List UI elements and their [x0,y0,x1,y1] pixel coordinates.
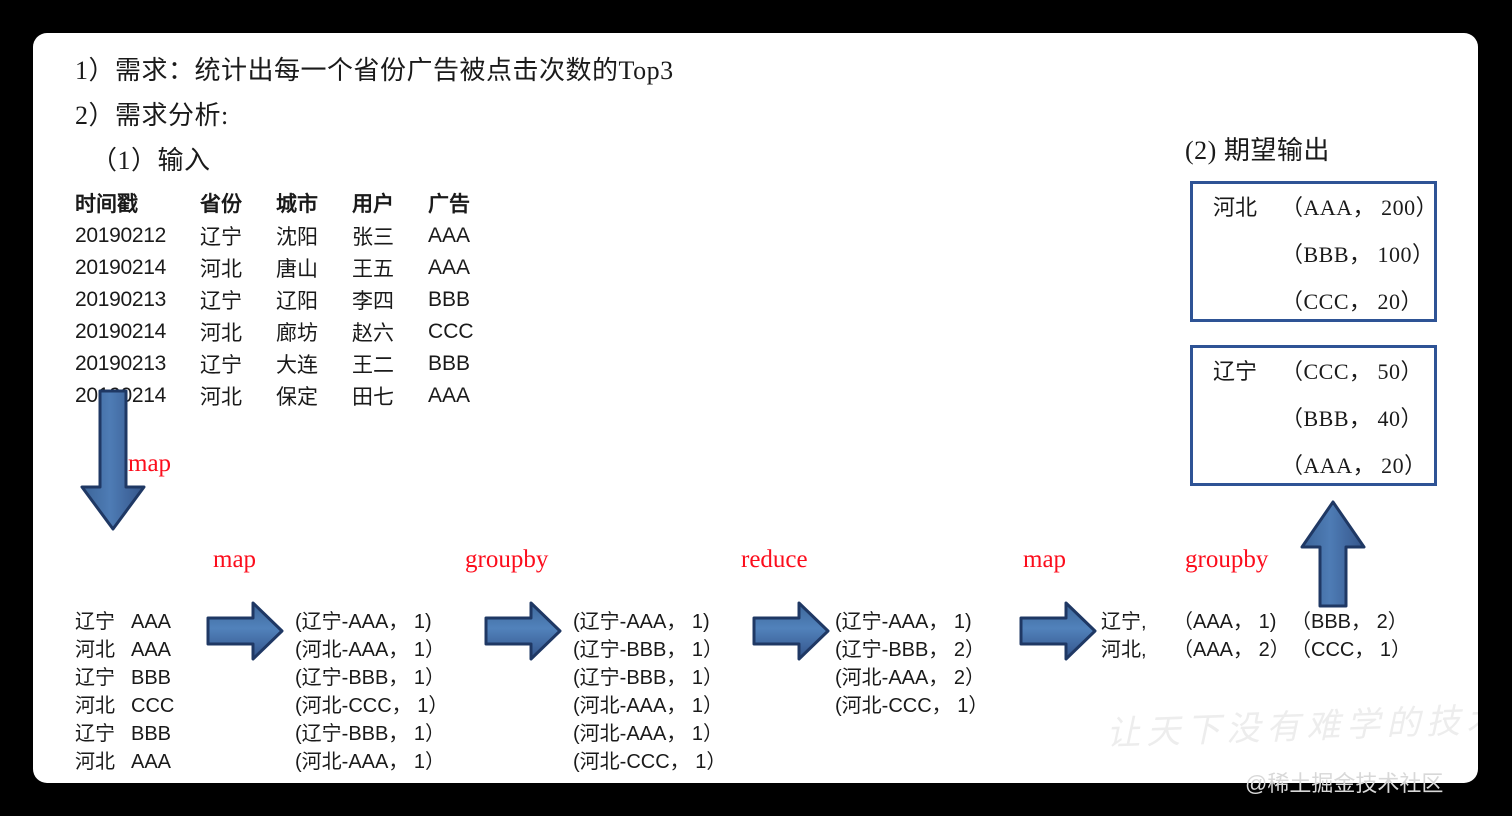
stage1-ad: AAA [131,636,171,664]
list-item: (辽宁-AAA， 1) [295,608,448,636]
list-item: (河北-AAA， 1） [573,720,726,748]
stage1-ad: AAA [131,608,171,636]
list-item: (辽宁-AAA， 1) [573,608,726,636]
cell-ad: BBB [428,284,508,316]
table-row: 20190213 辽宁 大连 王二 BBB [75,348,508,380]
list-item: (辽宁-BBB， 1） [295,720,448,748]
cell-user: 王五 [352,252,428,284]
input-data-table: 时间戳 省份 城市 用户 广告 20190212 辽宁 沈阳 张三 AAA 20… [75,188,508,412]
list-item: (辽宁-BBB， 2） [835,636,988,664]
list-item: 河北AAA [75,636,174,664]
list-item: (河北-CCC， 1） [835,692,988,720]
final-province: 辽宁, [1101,608,1173,636]
list-item: (河北-AAA， 1） [295,636,448,664]
cell-ad: AAA [428,252,508,284]
pipeline-stage-4: (辽宁-AAA， 1) (辽宁-BBB， 2） (河北-AAA， 2） (河北-… [835,608,988,720]
cell-ad: BBB [428,348,508,380]
cell-province: 河北 [200,380,276,412]
requirement-line: 1）需求：统计出每一个省份广告被点击次数的Top3 [75,50,674,87]
right-arrow-map-1-icon [205,600,285,662]
list-item: (河北-CCC， 1） [573,748,726,776]
pipeline-stage-3: (辽宁-AAA， 1) (辽宁-BBB， 1） (辽宁-BBB， 1） (河北-… [573,608,726,776]
expected-output-box-hebei: 河北 （AAA， 200） （BBB， 100） （CCC， 20） [1190,181,1437,322]
analysis-line: 2）需求分析: [75,95,229,132]
list-item: 辽宁BBB [75,664,174,692]
output-pair: （AAA， 20） [1281,442,1427,489]
cell-city: 辽阳 [276,284,352,316]
output-row: 河北 （AAA， 200） [1193,184,1434,231]
cell-city: 唐山 [276,252,352,284]
cell-user: 张三 [352,220,428,252]
list-item: (辽宁-BBB， 1） [573,636,726,664]
cell-ad: AAA [428,220,508,252]
list-item: (河北-AAA， 1） [295,748,448,776]
stage1-province: 河北 [75,748,131,776]
list-item: 河北,（AAA， 2）（CCC， 1） [1101,636,1411,664]
list-item: (河北-CCC， 1） [295,692,448,720]
table-row: 20190214 河北 廊坊 赵六 CCC [75,316,508,348]
cell-province: 辽宁 [200,348,276,380]
op-label-map-vertical: map [128,450,171,478]
slide-card: 1）需求：统计出每一个省份广告被点击次数的Top3 2）需求分析: （1）输入 … [33,33,1478,783]
list-item: (河北-AAA， 1） [573,692,726,720]
column-header-user: 用户 [352,188,428,220]
table-row: 20190214 河北 唐山 王五 AAA [75,252,508,284]
stage1-province: 辽宁 [75,664,131,692]
cell-ad: CCC [428,316,508,348]
expected-output-box-liaoning: 辽宁 （CCC， 50） （BBB， 40） （AAA， 20） [1190,345,1437,486]
stage1-province: 辽宁 [75,720,131,748]
table-row: 20190212 辽宁 沈阳 张三 AAA [75,220,508,252]
output-pair: （BBB， 40） [1281,395,1423,442]
table-header-row: 时间戳 省份 城市 用户 广告 [75,188,508,220]
output-pair: （CCC， 20） [1281,278,1423,325]
column-header-timestamp: 时间戳 [75,188,200,220]
cell-city: 大连 [276,348,352,380]
output-province: 辽宁 [1213,348,1257,395]
list-item: (河北-AAA， 2） [835,664,988,692]
list-item: 辽宁AAA [75,608,174,636]
output-pair: （AAA， 200） [1281,184,1438,231]
right-arrow-map-2-icon [1018,600,1098,662]
watermark-phrase: 让天下没有难学的技术 [1105,692,1478,755]
op-label-groupby-2: groupby [1185,546,1268,574]
cell-city: 保定 [276,380,352,412]
final-pair-1: （AAA， 2） [1173,636,1291,664]
pipeline-stage-5: 辽宁,（AAA， 1)（BBB， 2） 河北,（AAA， 2）（CCC， 1） [1101,608,1411,664]
op-label-map-2: map [1023,546,1066,574]
cell-user: 李四 [352,284,428,316]
cell-timestamp: 20190212 [75,220,200,252]
cell-province: 河北 [200,252,276,284]
output-province: 河北 [1213,184,1257,231]
cell-province: 辽宁 [200,284,276,316]
output-row: 辽宁 （CCC， 50） [1193,348,1434,395]
final-pair-2: （CCC， 1） [1291,636,1411,664]
list-item: 河北CCC [75,692,174,720]
cell-city: 廊坊 [276,316,352,348]
column-header-city: 城市 [276,188,352,220]
cell-user: 田七 [352,380,428,412]
cell-user: 王二 [352,348,428,380]
watermark-brand: @稀土掘金技术社区 [1245,766,1443,798]
cell-province: 河北 [200,316,276,348]
up-arrow-result-icon [1298,499,1368,609]
stage1-province: 辽宁 [75,608,131,636]
pipeline-stage-2: (辽宁-AAA， 1) (河北-AAA， 1） (辽宁-BBB， 1） (河北-… [295,608,448,776]
list-item: (辽宁-AAA， 1) [835,608,988,636]
output-pair: （BBB， 100） [1281,231,1435,278]
pipeline-stage-1: 辽宁AAA 河北AAA 辽宁BBB 河北CCC 辽宁BBB 河北AAA [75,608,174,776]
output-row: （BBB， 100） [1193,231,1434,278]
cell-ad: AAA [428,380,508,412]
stage1-ad: BBB [131,664,171,692]
output-row: （AAA， 20） [1193,442,1434,489]
stage1-ad: BBB [131,720,171,748]
input-section-label: （1）输入 [91,140,211,177]
stage1-ad: CCC [131,692,174,720]
cell-timestamp: 20190213 [75,284,200,316]
cell-timestamp: 20190214 [75,252,200,284]
op-label-reduce: reduce [741,546,808,574]
final-pair-2: （BBB， 2） [1291,608,1408,636]
cell-timestamp: 20190214 [75,316,200,348]
column-header-province: 省份 [200,188,276,220]
cell-timestamp: 20190213 [75,348,200,380]
list-item: (辽宁-BBB， 1） [573,664,726,692]
list-item: 辽宁BBB [75,720,174,748]
right-arrow-groupby-1-icon [483,600,563,662]
right-arrow-reduce-icon [751,600,831,662]
output-row: （CCC， 20） [1193,278,1434,325]
stage1-province: 河北 [75,636,131,664]
output-section-label: (2) 期望输出 [1185,130,1330,167]
op-label-map-1: map [213,546,256,574]
list-item: (辽宁-BBB， 1） [295,664,448,692]
final-pair-1: （AAA， 1) [1173,608,1291,636]
table-row: 20190213 辽宁 辽阳 李四 BBB [75,284,508,316]
op-label-groupby-1: groupby [465,546,548,574]
stage1-province: 河北 [75,692,131,720]
cell-city: 沈阳 [276,220,352,252]
list-item: 辽宁,（AAA， 1)（BBB， 2） [1101,608,1411,636]
stage1-ad: AAA [131,748,171,776]
cell-province: 辽宁 [200,220,276,252]
cell-user: 赵六 [352,316,428,348]
list-item: 河北AAA [75,748,174,776]
output-row: （BBB， 40） [1193,395,1434,442]
output-pair: （CCC， 50） [1281,348,1423,395]
final-province: 河北, [1101,636,1173,664]
column-header-ad: 广告 [428,188,508,220]
